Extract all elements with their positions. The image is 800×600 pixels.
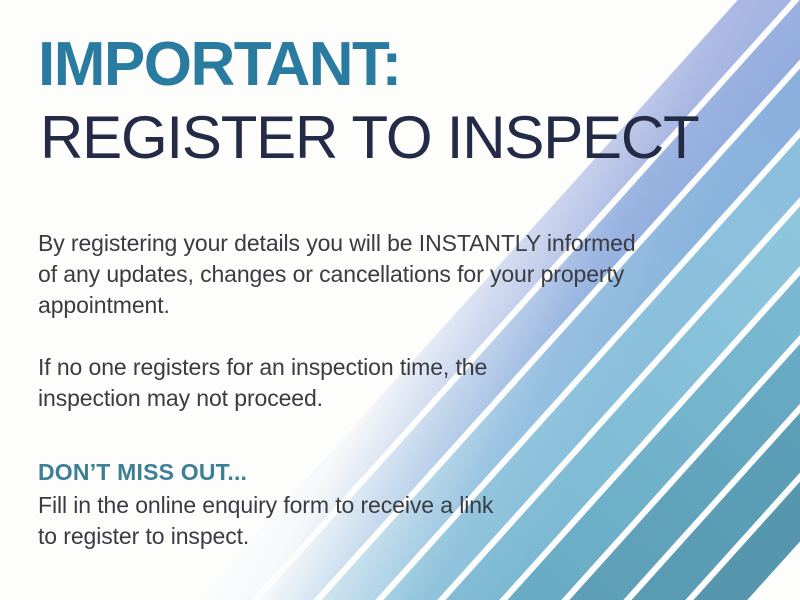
headline-important: IMPORTANT: — [38, 34, 401, 96]
poster-content: IMPORTANT: REGISTER TO INSPECT By regist… — [38, 0, 728, 600]
headline-register-to-inspect: REGISTER TO INSPECT — [40, 108, 698, 168]
callout-paragraph-enquiry-form: Fill in the online enquiry form to recei… — [38, 490, 508, 552]
body-paragraph-no-registration: If no one registers for an inspection ti… — [38, 352, 558, 414]
poster-canvas: IMPORTANT: REGISTER TO INSPECT By regist… — [0, 0, 800, 600]
body-paragraph-registering: By registering your details you will be … — [38, 228, 658, 321]
callout-kicker-dont-miss-out: DON’T MISS OUT... — [38, 458, 247, 486]
